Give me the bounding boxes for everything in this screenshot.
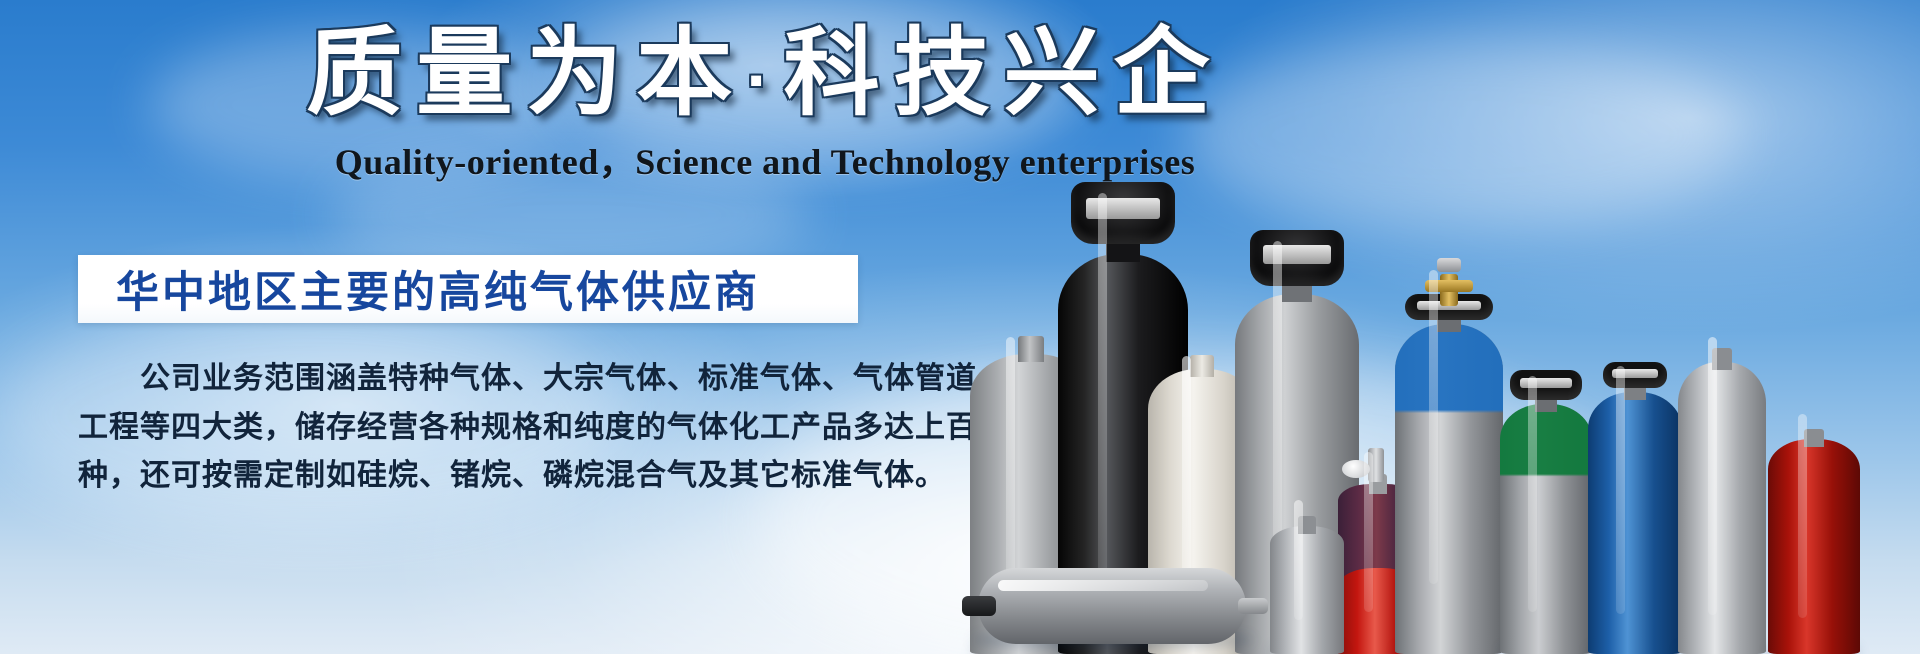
cylinder-aluminum-small (1270, 494, 1344, 654)
gas-cylinder-group (940, 0, 1920, 654)
slogan-white-box: 华中地区主要的高纯气体供应商 (78, 255, 858, 323)
paragraph-line-2: 工程等四大类，储存经营各种规格和纯度的气体化工产品多达上百 (78, 404, 878, 453)
cylinder-blue-tall (1395, 254, 1503, 654)
headline-separator-dot: · (746, 41, 783, 119)
cylinder-cap-icon (1250, 230, 1344, 286)
cylinder-cap-icon (1603, 362, 1667, 388)
cylinder-green-medium (1500, 364, 1592, 654)
slogan-text: 华中地区主要的高纯气体供应商 (116, 258, 760, 320)
cylinder-blue-dark-medium (1588, 354, 1682, 654)
cylinder-horizontal-tank (962, 568, 1262, 644)
cylinder-cap-icon (1071, 182, 1175, 244)
headline-part1: 质量为本 (306, 20, 746, 127)
cylinder-cap-icon (1510, 370, 1582, 400)
paragraph-line-3: 种，还可按需定制如硅烷、锗烷、磷烷混合气及其它标准气体。 (78, 452, 878, 501)
cylinder-aluminum-tall (1678, 324, 1766, 654)
paragraph-line-1: 公司业务范围涵盖特种气体、大宗气体、标准气体、气体管道 (78, 355, 878, 404)
slogan-box-wrapper: 华中地区主要的高纯气体供应商 (78, 255, 858, 323)
banner-paragraph: 公司业务范围涵盖特种气体、大宗气体、标准气体、气体管道 工程等四大类，储存经营各… (78, 355, 878, 501)
banner: 质量为本·科技兴企 Quality-oriented，Science and T… (0, 0, 1920, 654)
cylinder-red-dark-right (1768, 404, 1860, 654)
